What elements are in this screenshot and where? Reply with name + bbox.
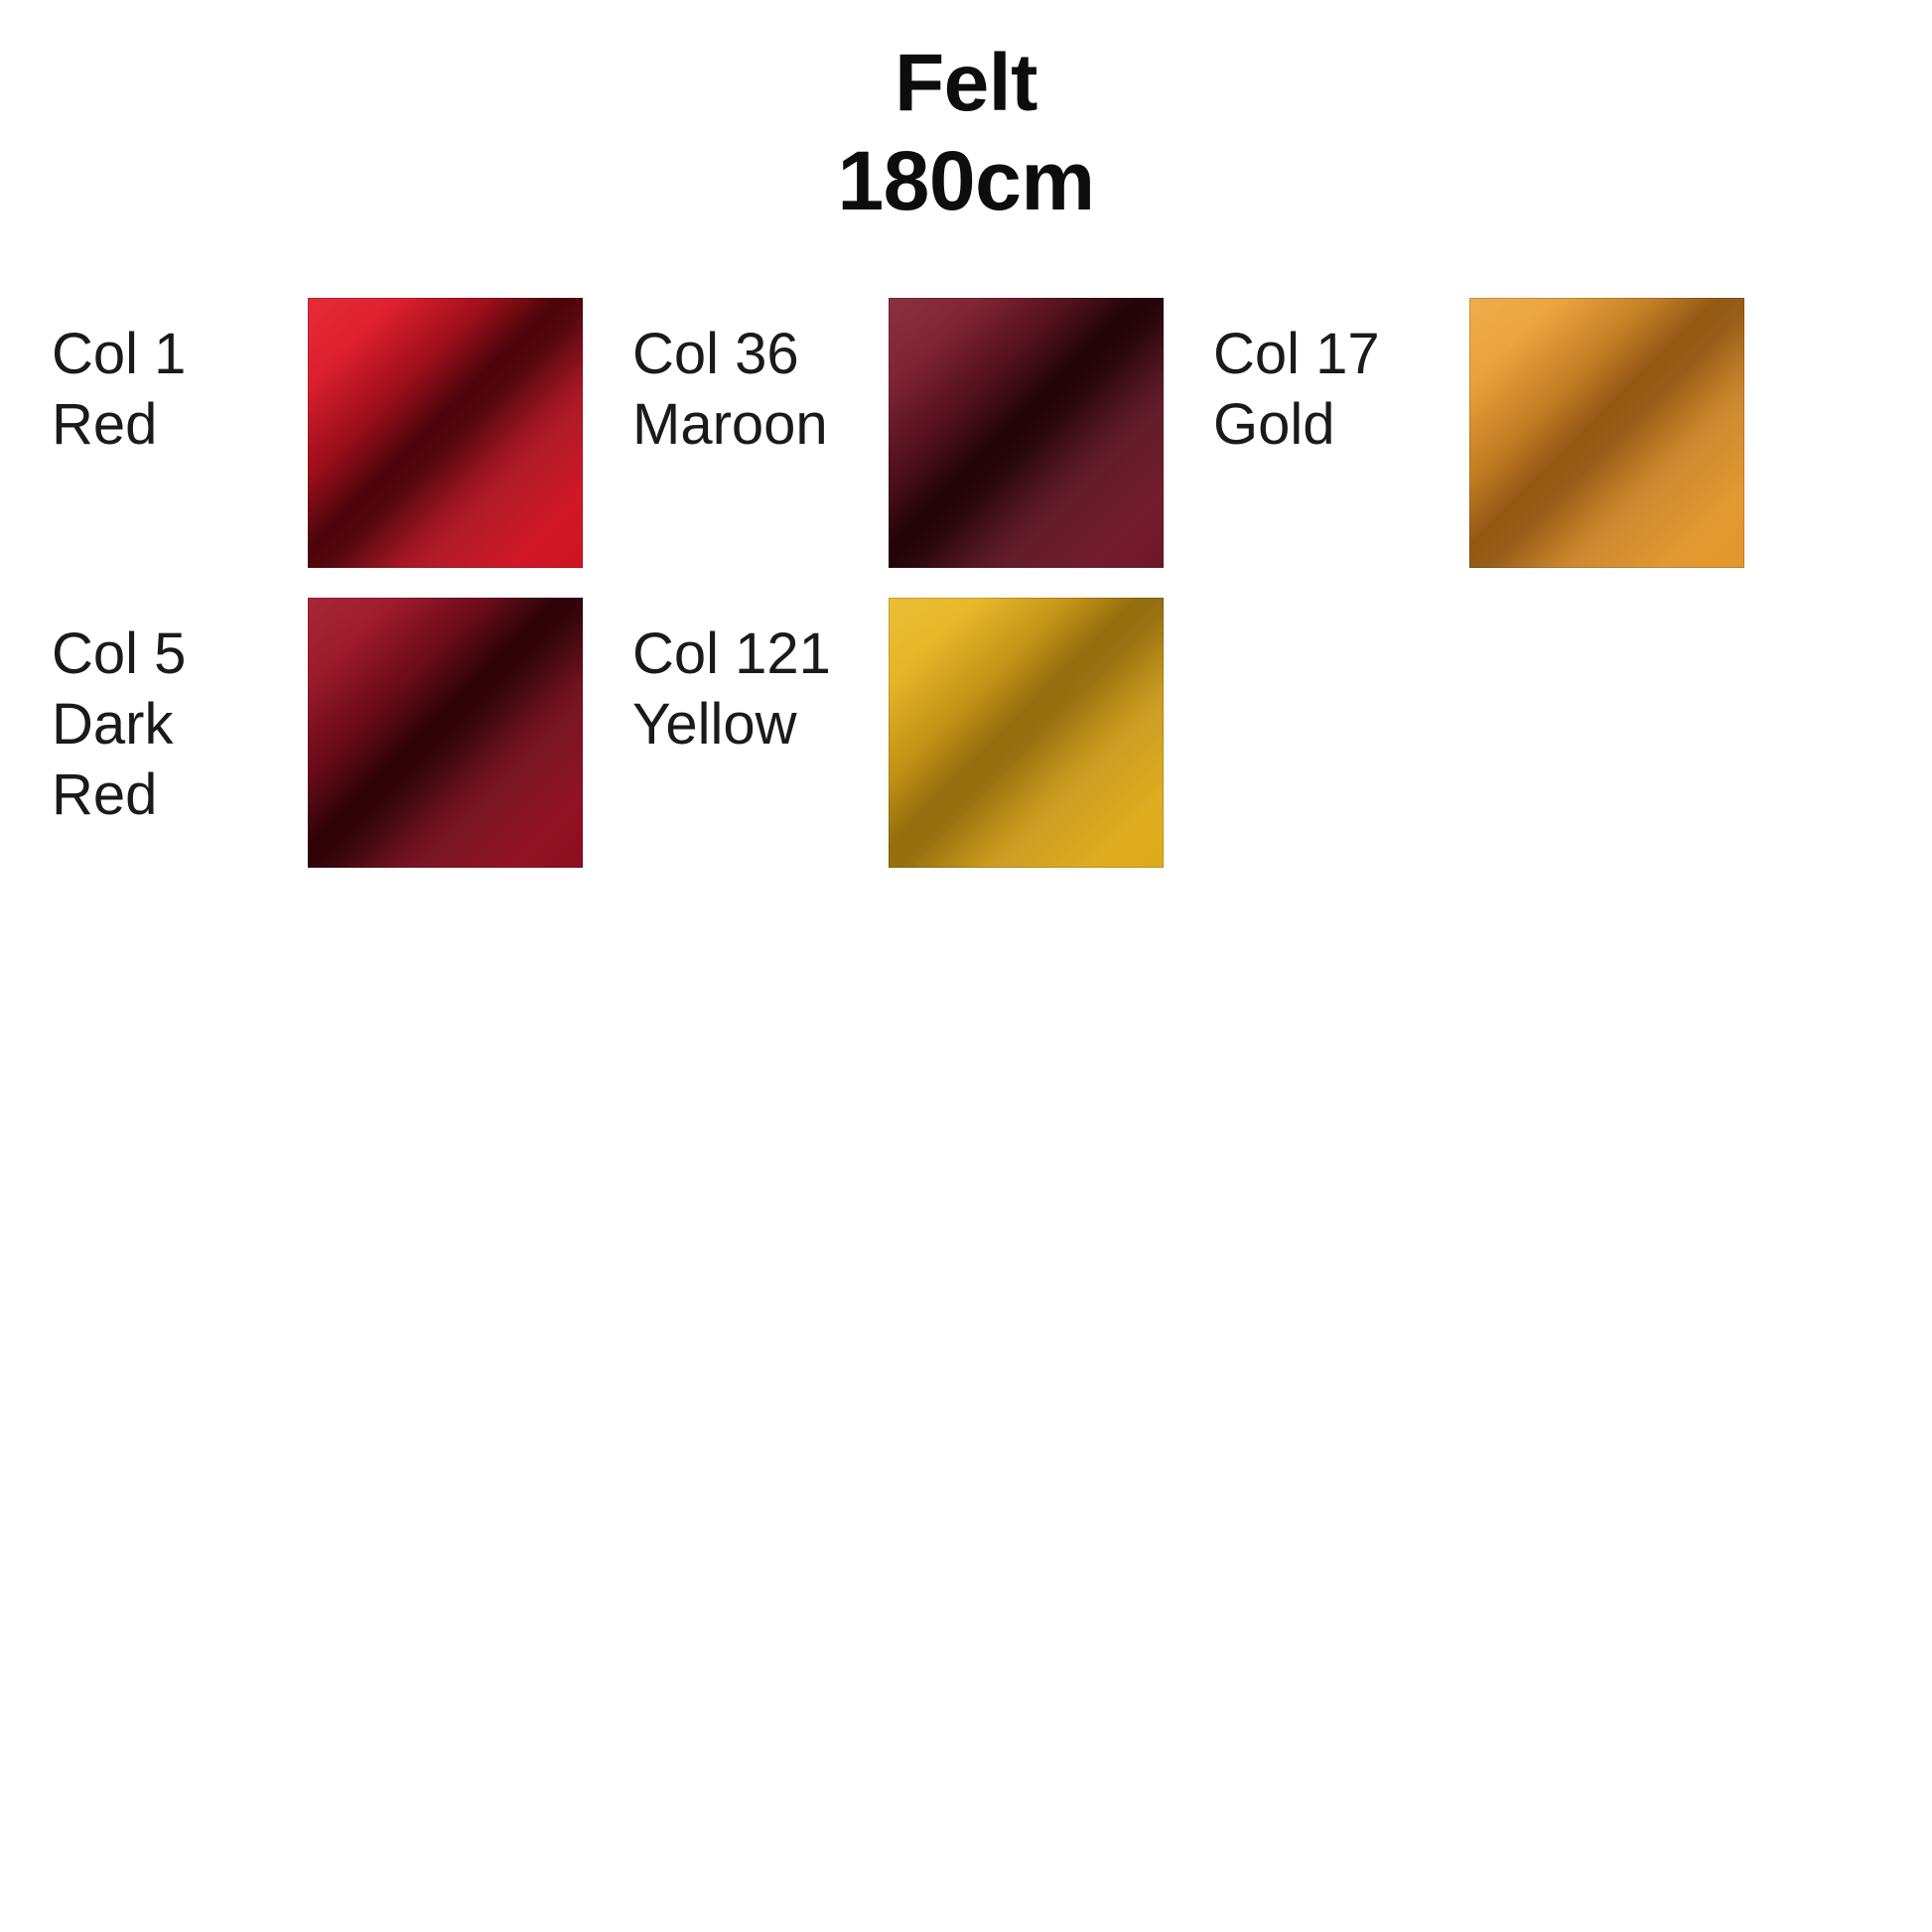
swatch-colour-name: Gold: [1213, 390, 1469, 461]
swatch-cell: Col 36Maroon: [632, 298, 1213, 568]
swatch-colour-name: Red: [52, 390, 308, 461]
swatch-colour-name: Red: [52, 760, 308, 831]
swatch-border: [889, 598, 1164, 868]
product-colour-chart: Felt 180cm Col 1RedCol 36MaroonCol 17Gol…: [0, 0, 1932, 1932]
swatch-border: [308, 598, 583, 868]
colour-swatch[interactable]: [889, 298, 1164, 568]
swatch-cell: Col 1Red: [52, 298, 632, 568]
swatch-colour-name: Maroon: [632, 390, 889, 461]
colour-swatch[interactable]: [1469, 298, 1744, 568]
swatch-colour-name: Dark: [52, 690, 308, 760]
swatch-colour-code: Col 36: [632, 320, 889, 390]
colour-swatch[interactable]: [308, 598, 583, 868]
swatch-border: [889, 298, 1164, 568]
swatch-label: Col 1Red: [52, 298, 308, 461]
page-title: Felt 180cm: [0, 36, 1932, 230]
swatch-label: Col 5DarkRed: [52, 598, 308, 830]
title-product-width: 180cm: [0, 132, 1932, 230]
swatch-cell: Col 5DarkRed: [52, 598, 632, 868]
swatch-label: Col 36Maroon: [632, 298, 889, 461]
colour-swatch[interactable]: [308, 298, 583, 568]
swatch-colour-name: Yellow: [632, 690, 889, 760]
swatch-row: Col 5DarkRedCol 121Yellow: [52, 598, 1884, 868]
swatch-label: Col 121Yellow: [632, 598, 889, 760]
swatch-colour-code: Col 5: [52, 620, 308, 690]
swatch-cell: Col 121Yellow: [632, 598, 1213, 868]
colour-swatch[interactable]: [889, 598, 1164, 868]
swatch-colour-code: Col 1: [52, 320, 308, 390]
swatch-row: Col 1RedCol 36MaroonCol 17Gold: [52, 298, 1884, 568]
swatch-label: Col 17Gold: [1213, 298, 1469, 461]
swatch-colour-code: Col 17: [1213, 320, 1469, 390]
swatch-grid: Col 1RedCol 36MaroonCol 17GoldCol 5DarkR…: [52, 298, 1884, 868]
swatch-border: [1469, 298, 1744, 568]
swatch-border: [308, 298, 583, 568]
swatch-cell: Col 17Gold: [1213, 298, 1794, 568]
swatch-colour-code: Col 121: [632, 620, 889, 690]
title-product-name: Felt: [0, 36, 1932, 132]
